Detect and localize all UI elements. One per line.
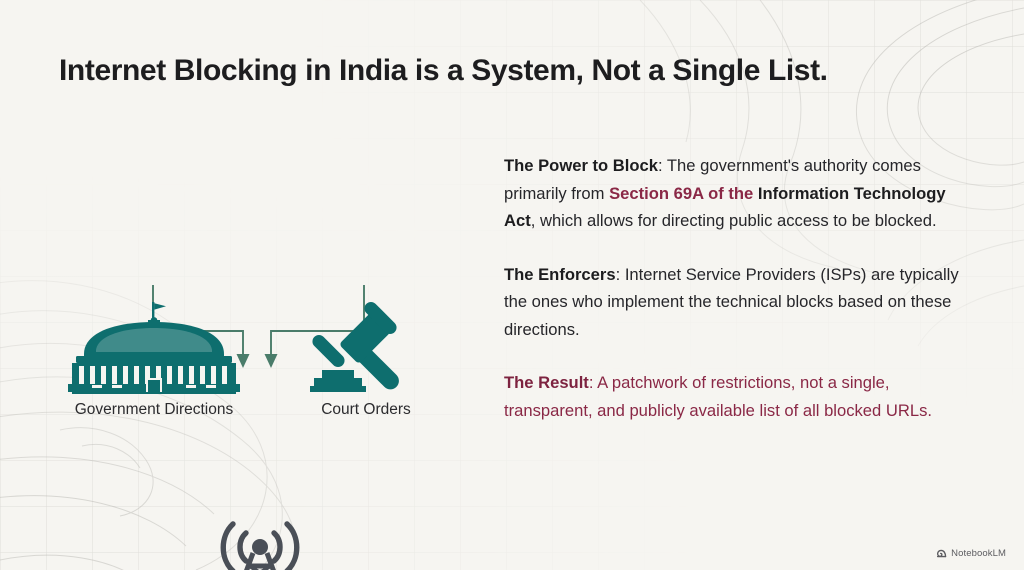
diagram-label-court: Court Orders (296, 401, 436, 419)
gavel-icon (300, 300, 428, 401)
page-title: Internet Blocking in India is a System, … (59, 54, 828, 88)
paragraph-power-to-block: The Power to Block: The government's aut… (504, 152, 976, 235)
broadcast-tower-icon (206, 516, 314, 570)
notebooklm-spiral-icon (936, 548, 947, 559)
notebooklm-watermark: NotebookLM (936, 548, 1006, 559)
watermark-label: NotebookLM (951, 548, 1006, 559)
flow-diagram: Government Directions Court Orders ISP E… (0, 140, 470, 520)
paragraph-result: The Result: A patchwork of restrictions,… (504, 369, 976, 424)
paragraph-enforcers: The Enforcers: Internet Service Provider… (504, 261, 976, 344)
diagram-label-government: Government Directions (54, 401, 254, 419)
explanatory-text-column: The Power to Block: The government's aut… (504, 152, 976, 424)
slide-canvas: Internet Blocking in India is a System, … (0, 0, 1024, 570)
parliament-building-icon (66, 300, 242, 401)
